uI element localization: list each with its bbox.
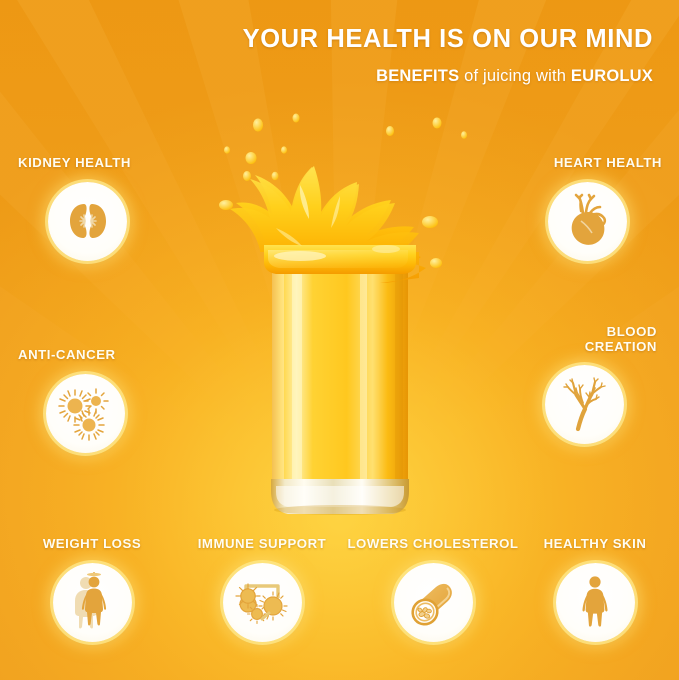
page-subtitle: BENEFITS of juicing with EUROLUX [243,67,653,86]
benefit-label-healthy-skin: HEALTHY SKIN [521,537,669,552]
benefit-label-heart-health: HEART HEALTH [512,156,662,171]
cancer-cells-icon [46,374,125,453]
heart-icon [548,182,627,261]
benefit-label-blood-creation: BLOOD CREATION [512,325,657,355]
benefit-heart-health: HEART HEALTH [512,156,662,261]
subtitle-connector-text: of juicing with [459,67,571,85]
benefit-kidney-health: KIDNEY HEALTH [18,156,168,261]
infographic-poster: YOUR HEALTH IS ON OUR MIND BENEFITS of j… [0,0,679,680]
artery-cross-section-icon [394,563,473,642]
benefit-label-immune-support: IMMUNE SUPPORT [182,537,342,552]
human-body-icon [53,563,132,642]
benefit-lowers-cholesterol: LOWERS CHOLESTEROL [333,537,533,642]
kidneys-icon [48,182,127,261]
human-skin-figure-icon [556,563,635,642]
benefit-label-kidney-health: KIDNEY HEALTH [18,156,168,171]
subtitle-brand-name: EUROLUX [571,67,653,85]
benefit-healthy-skin: HEALTHY SKIN [521,537,669,642]
blood-vessel-tree-icon [545,365,624,444]
subtitle-benefits-word: BENEFITS [376,67,459,85]
benefit-immune-support: IMMUNE SUPPORT [182,537,342,642]
page-title: YOUR HEALTH IS ON OUR MIND [243,26,653,53]
benefit-label-weight-loss: WEIGHT LOSS [12,537,172,552]
benefit-anti-cancer: ANTI-CANCER [18,348,168,453]
benefit-label-lowers-cholesterol: LOWERS CHOLESTEROL [333,537,533,552]
immune-cells-icon [223,563,302,642]
benefit-blood-creation: BLOOD CREATION [512,325,657,444]
headings-block: YOUR HEALTH IS ON OUR MIND BENEFITS of j… [243,26,653,86]
benefit-label-anti-cancer: ANTI-CANCER [18,348,168,363]
benefit-weight-loss: WEIGHT LOSS [12,537,172,642]
